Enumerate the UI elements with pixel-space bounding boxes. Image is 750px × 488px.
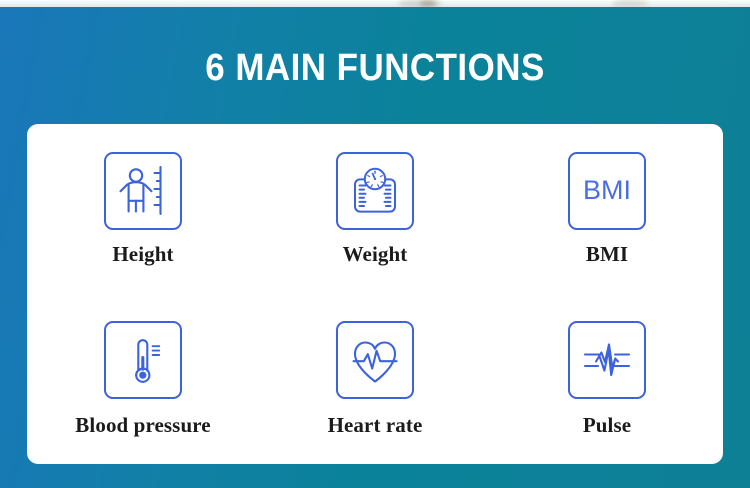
feature-item-height[interactable]: Height xyxy=(27,124,259,294)
feature-item-heart-rate[interactable]: Heart rate xyxy=(259,294,491,464)
features-card: Height xyxy=(27,124,723,464)
feature-label: Pulse xyxy=(583,413,631,438)
feature-item-weight[interactable]: Weight xyxy=(259,124,491,294)
feature-label: Height xyxy=(112,242,173,267)
feature-item-pulse[interactable]: Pulse xyxy=(491,294,723,464)
feature-label: Blood pressure xyxy=(75,413,210,438)
strip-smudge xyxy=(420,0,436,7)
hero-panel: 6 MAIN FUNCTIONS xyxy=(0,7,750,488)
pulse-waveform-icon xyxy=(568,321,646,399)
infographic-page: 6 MAIN FUNCTIONS xyxy=(0,0,750,488)
feature-item-blood-pressure[interactable]: Blood pressure xyxy=(27,294,259,464)
bmi-text-icon: BMI xyxy=(568,152,646,230)
feature-label: BMI xyxy=(586,242,628,267)
feature-label: Heart rate xyxy=(328,413,423,438)
top-image-strip xyxy=(0,0,750,7)
feature-item-bmi[interactable]: BMI BMI xyxy=(491,124,723,294)
feature-label: Weight xyxy=(343,242,408,267)
page-title: 6 MAIN FUNCTIONS xyxy=(30,45,720,91)
features-grid: Height xyxy=(27,124,723,464)
height-person-ruler-icon xyxy=(104,152,182,230)
thermometer-icon xyxy=(104,321,182,399)
heart-ecg-icon xyxy=(336,321,414,399)
strip-smudge xyxy=(612,0,648,7)
weight-scale-icon xyxy=(336,152,414,230)
bmi-icon-text: BMI xyxy=(583,177,631,204)
